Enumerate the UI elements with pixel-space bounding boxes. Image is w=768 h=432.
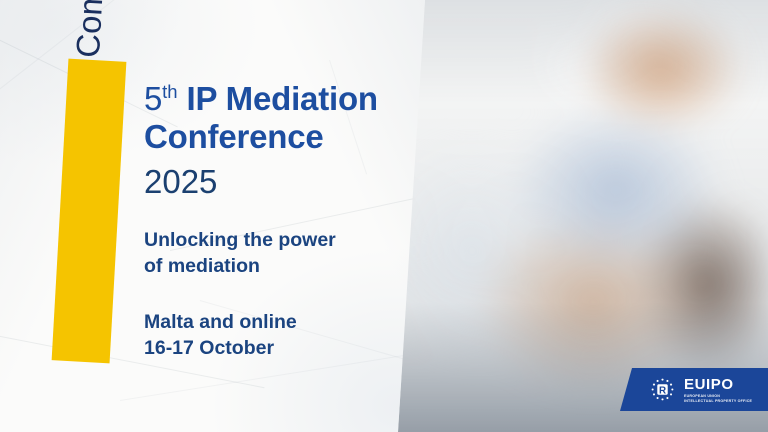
edition-ordinal: 5th [144,80,178,117]
euipo-wordmark-block: EUIPO EUROPEAN UNION INTELLECTUAL PROPER… [684,377,752,405]
ordinal-number: 5 [144,80,162,117]
subtitle-line-2: of mediation [144,255,260,277]
event-year: 2025 [144,163,217,201]
event-location: Malta and online [144,311,297,333]
title-line-1: IP Mediation [187,80,378,117]
event-details: Malta and online 16-17 October [144,310,394,361]
svg-text:R: R [659,385,666,396]
euipo-logo-bar: R EUIPO EUROPEAN UNION INTELLECTUAL PROP… [620,368,768,411]
euipo-wordmark: EUIPO [684,377,752,392]
subtitle-line-1: Unlocking the power [144,229,336,251]
event-subtitle: Unlocking the power of mediation [144,228,394,279]
euipo-subtitle-line-2: INTELLECTUAL PROPERTY OFFICE [684,399,752,404]
title-line-2: Conference [144,118,324,155]
euipo-subtitle-block: EUROPEAN UNION INTELLECTUAL PROPERTY OFF… [684,394,752,405]
photo-vignette [388,0,768,432]
background-photo [388,0,768,432]
flag-text-light: Coming up [69,0,116,59]
eu-stars-circle-icon: R [648,375,677,404]
page-title: 5th IP Mediation Conference [144,80,412,157]
event-dates: 16-17 October [144,337,274,359]
ordinal-suffix: th [162,81,177,102]
promotional-banner: Coming up soon 5th IP Mediation Conferen… [0,0,768,432]
